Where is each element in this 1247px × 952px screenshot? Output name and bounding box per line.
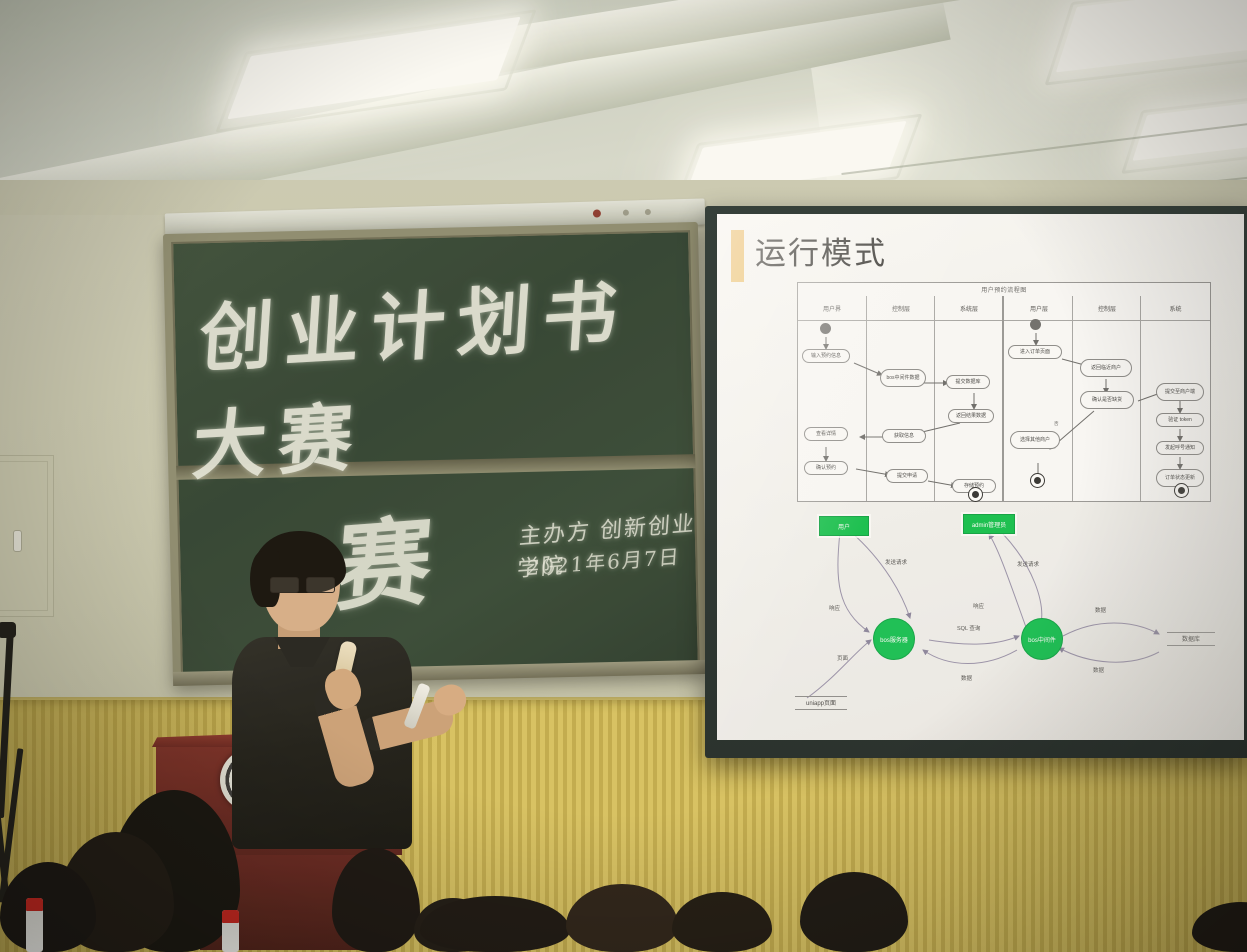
activity-diagram: 用户预约流程图 用户界 控制层 系统层 用户层 控制层 [797,282,1211,502]
flow-label: 响应 [973,602,984,610]
swimlane-header: 控制层 [867,296,935,321]
camera-tripod [0,628,24,908]
flow-label: 发送请求 [885,558,907,566]
activity-node: 输入预约信息 [802,349,850,363]
end-node [968,487,983,502]
data-store: 数据库 [1167,634,1215,644]
activity-node: 进入订单页面 [1008,345,1062,359]
slide-title-accent-bar [731,230,744,282]
activity-node: 确认预约 [804,461,848,475]
swimlane-header: 用户层 [1004,296,1074,321]
activity-node: 提交至商户端 [1156,383,1204,401]
start-node [820,323,831,334]
swimlane-header: 控制层 [1073,296,1141,321]
activity-node: 验证 token [1156,413,1204,427]
flow-label: 数据 [1093,666,1104,674]
bottle-cap [222,910,239,923]
tripod-head [0,622,16,638]
data-store: uniapp页面 [795,698,847,708]
flow-label: 响应 [829,604,840,612]
activity-node: 发起呼号通知 [1156,441,1204,455]
rail-indicator [623,210,629,216]
flow-label: 页面 [837,654,848,662]
speaker [226,533,456,853]
rail-indicator [593,209,601,217]
slide: 运行模式 用户预约流程图 用户界 控制层 系统层 用户层 [717,214,1244,740]
activity-node: 选择其他商户 [1010,431,1060,449]
display-screen: 运行模式 用户预约流程图 用户界 控制层 系统层 用户层 [717,214,1244,740]
dataflow-connectors [777,510,1227,720]
swimlane-header: 用户界 [798,296,866,321]
flow-label: 数据 [961,674,972,682]
guard-condition: 否 [1054,421,1059,427]
wall-access-panel-inset [0,461,48,611]
activity-node: 提交申请 [886,469,928,483]
activity-node: bos中间件数据 [880,369,926,387]
activity-node: 返回结果数据 [948,409,994,423]
activity-node: 确认是否缺货 [1080,391,1134,409]
end-node [1030,473,1045,488]
activity-node: 提交数据库 [946,375,990,389]
swimlane-header: 系统层 [935,296,1003,321]
activity-node: 查看详情 [804,427,848,441]
start-node [1030,319,1041,330]
flow-label: 发送请求 [1017,560,1039,568]
lecture-hall-photo: 创业计划书大赛 赛 主办方 创新创业学院 2021年6月7日 运行模式 用户预约… [0,0,1247,952]
swimlane-header: 系统 [1141,296,1210,321]
external-entity: 用户 [819,516,869,536]
activity-node: 返回临近商户 [1080,359,1132,377]
glasses-icon [270,577,336,592]
process-node: bos中间件 [1021,618,1063,660]
swimlane: 系统层 [934,296,1003,501]
dataflow-diagram: 用户 admin管理员 bos服务器 bos中间件 uniapp页面 数据库 发… [777,510,1227,720]
presentation-display: 运行模式 用户预约流程图 用户界 控制层 系统层 用户层 [705,206,1247,758]
external-entity: admin管理员 [963,514,1015,534]
flow-label: 数据 [1095,606,1106,614]
glasses-lens [270,577,299,593]
end-node [1174,483,1189,498]
water-bottle [222,910,239,952]
flow-label: SQL 查询 [957,624,980,632]
activity-node: 获取信息 [882,429,926,443]
slide-title: 运行模式 [755,228,887,273]
rail-indicator [645,209,651,215]
bottle-cap [26,898,43,911]
wall-access-panel [0,455,54,617]
wall-access-panel-lock [13,530,22,552]
process-node: bos服务器 [873,618,915,660]
glasses-lens [306,577,335,593]
water-bottle [26,898,43,952]
activity-diagram-caption: 用户预约流程图 [798,285,1210,294]
